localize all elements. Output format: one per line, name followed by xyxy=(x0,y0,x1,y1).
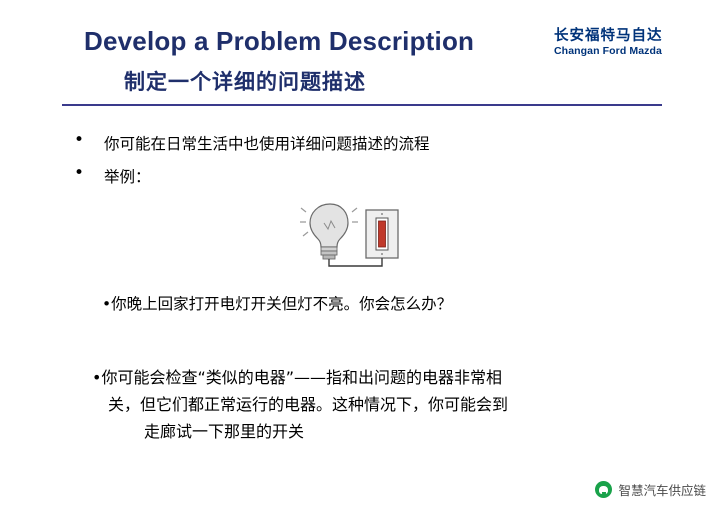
watermark: 智慧汽车供应链 xyxy=(595,480,706,499)
paragraph-line-1: 你可能会检查“类似的电器”——指和出问题的电器非常相 xyxy=(101,368,502,387)
bullet-item-2: 举例： xyxy=(104,165,151,187)
sub-bullet-item-1: •你晚上回家打开电灯开关但灯不亮。你会怎么办？ xyxy=(102,292,452,314)
brand-name-english: Changan Ford Mazda xyxy=(554,45,694,58)
watermark-text: 智慧汽车供应链 xyxy=(618,480,706,499)
bullet-item-1: 你可能在日常生活中也使用详细问题描述的流程 xyxy=(104,132,430,154)
paragraph-block: •你可能会检查“类似的电器”——指和出问题的电器非常相 关，但它们都正常运行的电… xyxy=(92,364,652,445)
sub-bullet-marker: • xyxy=(102,295,111,313)
slide-header: Develop a Problem Description 制定一个详细的问题描… xyxy=(0,0,720,104)
brand-name-chinese: 长安福特马自达 xyxy=(554,28,694,45)
wechat-logo-icon xyxy=(595,481,612,498)
header-divider xyxy=(62,104,662,106)
bullet-marker: • xyxy=(74,130,84,150)
page-title-english: Develop a Problem Description xyxy=(84,26,474,57)
lightbulb-and-switch-icon xyxy=(300,196,410,276)
sub-bullet-text: 你晚上回家打开电灯开关但灯不亮。你会怎么办？ xyxy=(111,295,452,313)
paragraph-line-2: 关，但它们都正常运行的电器。这种情况下，你可能会到 xyxy=(92,391,652,418)
slide: Develop a Problem Description 制定一个详细的问题描… xyxy=(0,0,720,509)
page-title-chinese: 制定一个详细的问题描述 xyxy=(124,66,366,96)
bullet-marker: • xyxy=(74,163,84,183)
paragraph-line-3: 走廊试一下那里的开关 xyxy=(92,418,652,445)
brand-logo: 长安福特马自达 Changan Ford Mazda xyxy=(554,28,694,58)
